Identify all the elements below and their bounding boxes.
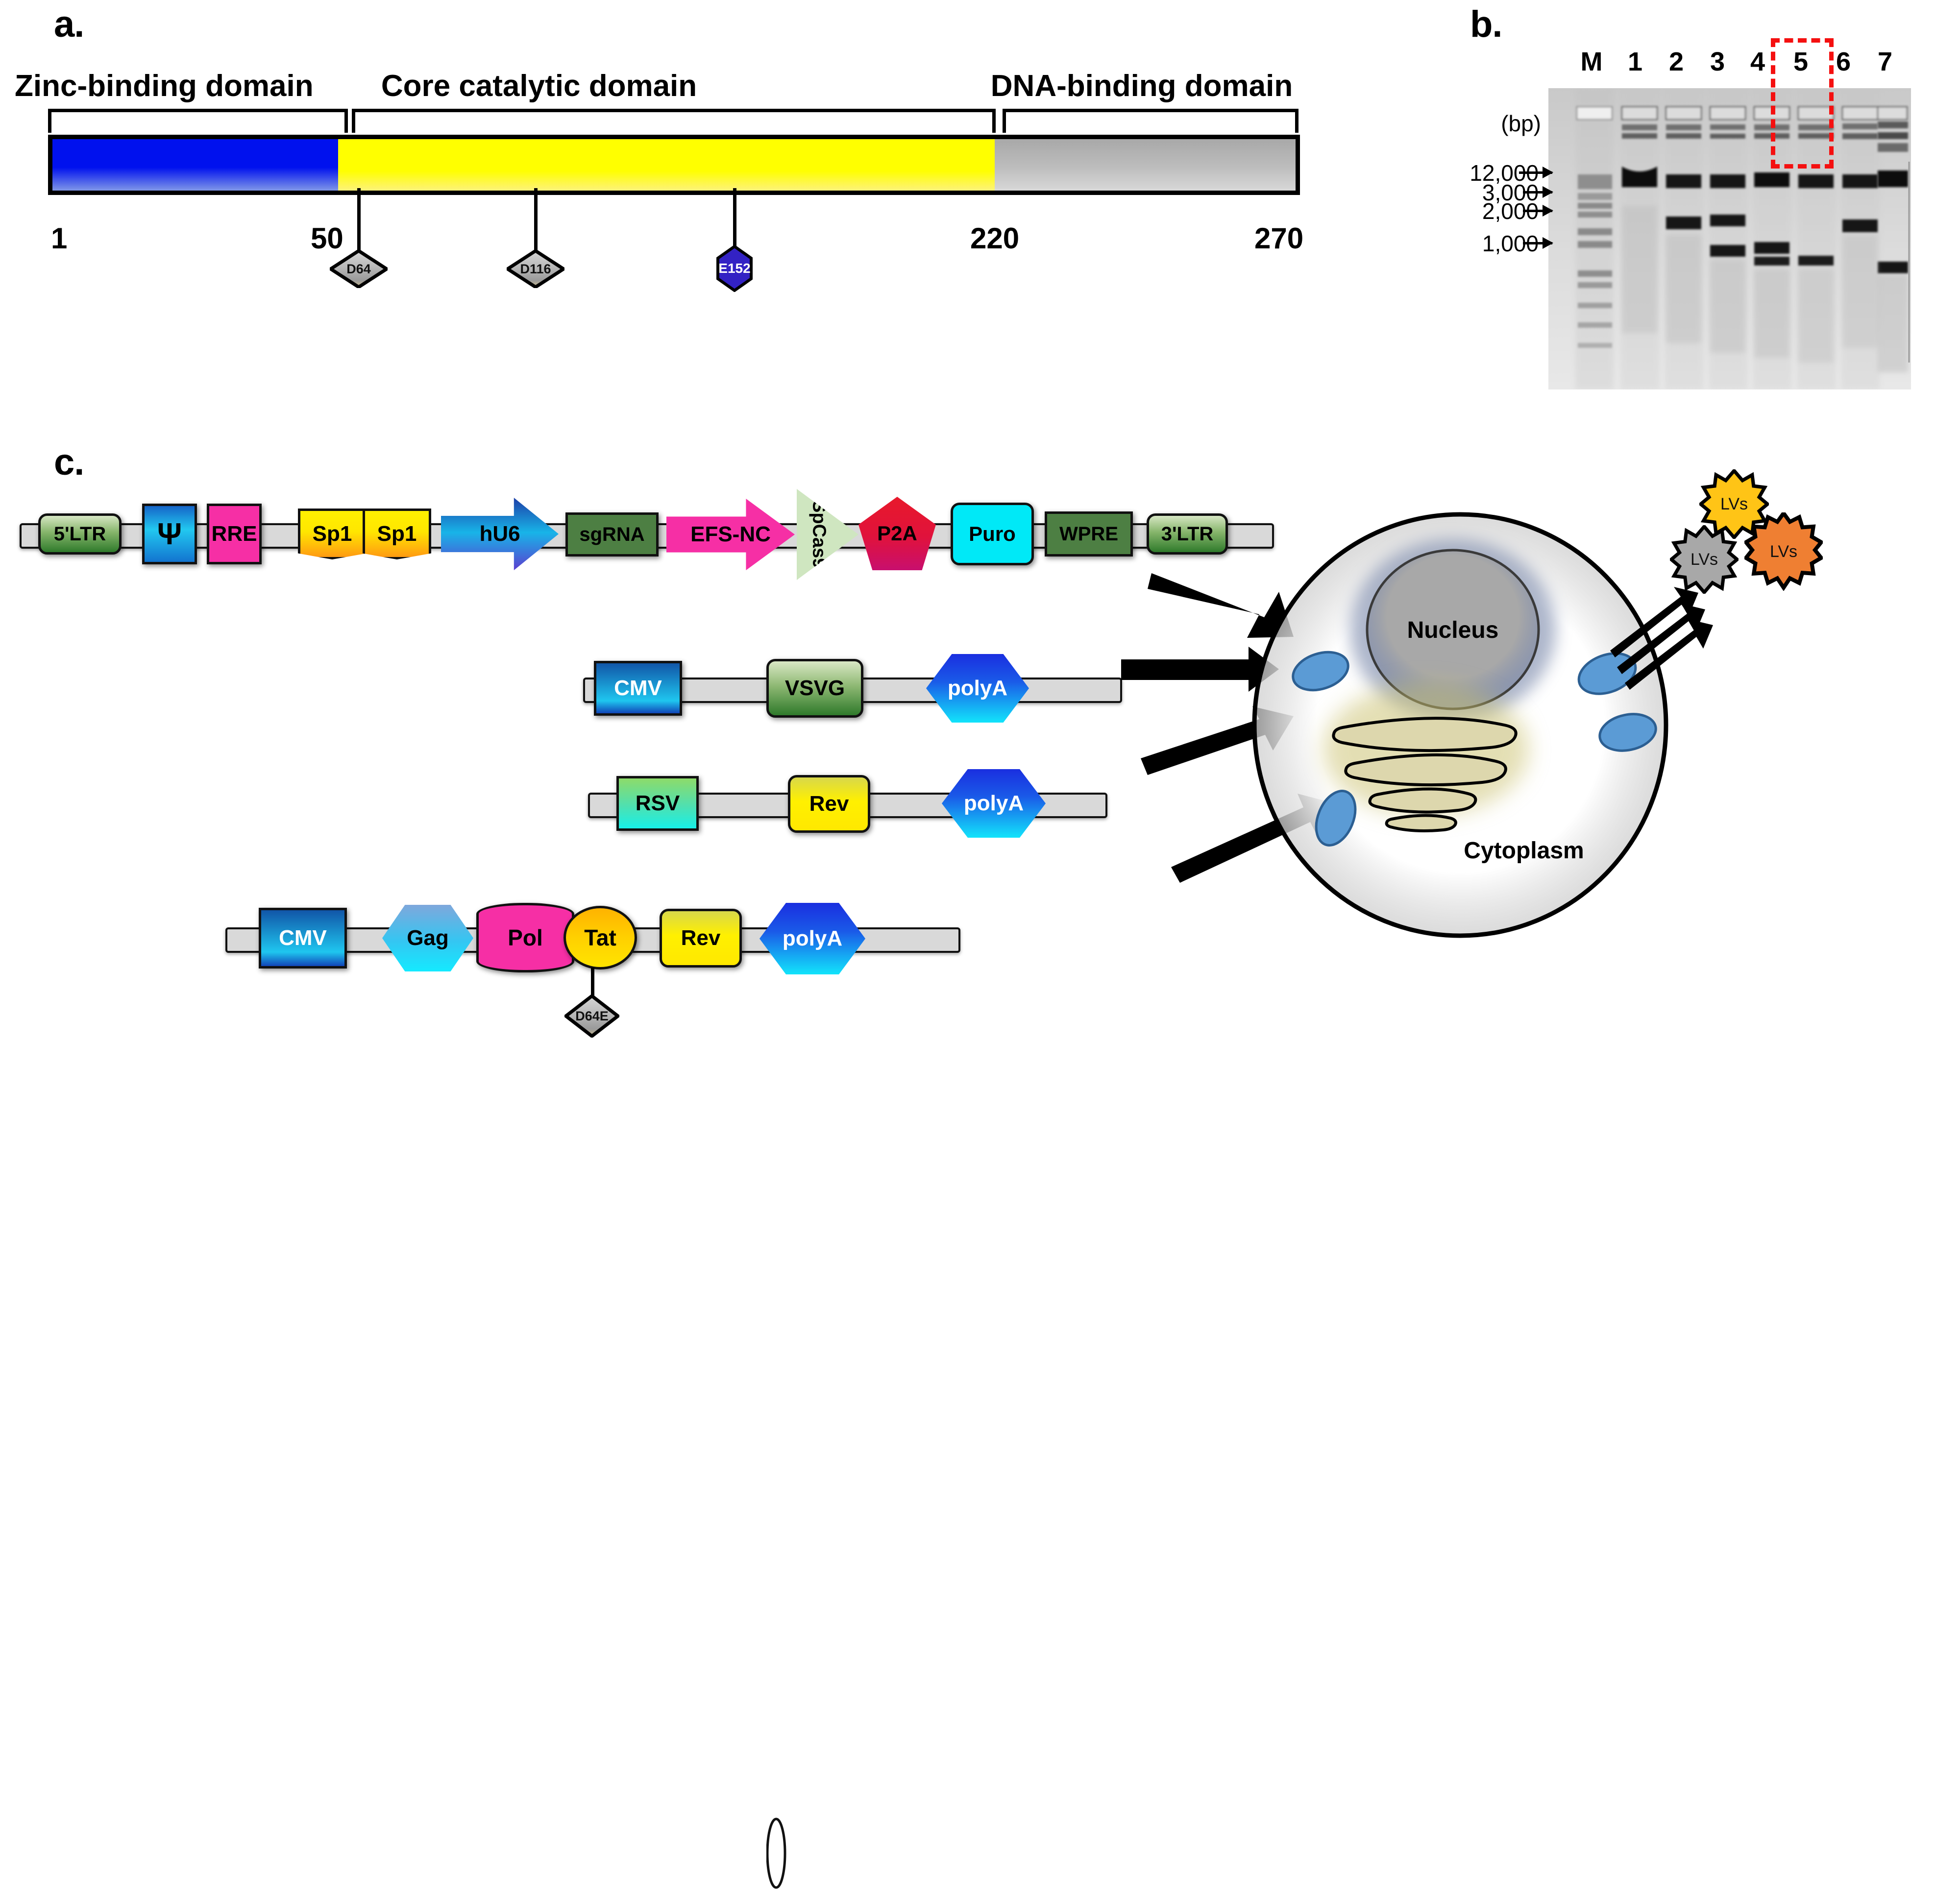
- feature-spcas9[interactable]: SpCas9: [797, 489, 858, 580]
- domain-segment-zinc: [48, 135, 343, 195]
- bp-arrow-1000: [1523, 242, 1552, 244]
- panel-c-letter: c.: [54, 441, 84, 484]
- feature-puro[interactable]: Puro: [951, 503, 1034, 565]
- feature-rev-1[interactable]: Rev: [788, 775, 870, 833]
- feature-p2a[interactable]: P2A: [858, 497, 936, 570]
- mutation-marker-e152: E152: [716, 245, 753, 292]
- domain-title-zinc: Zinc-binding domain: [15, 69, 279, 103]
- mutation-stem-e152: [733, 188, 736, 246]
- feature-polya-rev[interactable]: polyA: [942, 769, 1046, 838]
- gel-lane-label-m: M: [1574, 47, 1609, 77]
- feature-cmv-pack[interactable]: CMV: [259, 908, 347, 969]
- mutation-stem-d64: [357, 188, 361, 252]
- feature-sp1-2[interactable]: Sp1: [363, 509, 431, 559]
- mutation-marker-d64: D64: [330, 250, 388, 288]
- construct-transfer-vector: 5'LTR Ψ RRE Sp1 Sp1 hU6 sgRNA EFS-NC SpC…: [20, 509, 1274, 558]
- virion-budding-arrows: [1607, 578, 1744, 705]
- gel-lane-label-4: 4: [1740, 47, 1775, 77]
- construct-rev-plasmid: RSV Rev polyA: [588, 779, 1107, 828]
- construct-envelope-plasmid: CMV VSVG polyA: [583, 664, 1122, 713]
- bp-arrow-2000: [1523, 210, 1552, 212]
- feature-gag[interactable]: Gag: [382, 905, 473, 971]
- domain-segment-core: [338, 135, 995, 195]
- feature-psi[interactable]: Ψ: [142, 504, 197, 564]
- bp-arrow-12000: [1519, 171, 1552, 174]
- mutation-marker-d64e: D64E: [564, 994, 619, 1038]
- lane5-highlight-box: [1771, 38, 1834, 169]
- feature-tat[interactable]: Tat: [563, 906, 637, 969]
- feature-polya-pack[interactable]: polyA: [759, 903, 865, 974]
- domain-title-dna: DNA-binding domain: [970, 69, 1313, 103]
- bp-unit-label: (bp): [1468, 110, 1541, 137]
- mutation-label-d64: D64: [330, 250, 388, 288]
- feature-hu6[interactable]: hU6: [441, 498, 559, 570]
- panel-a-letter: a.: [54, 3, 84, 46]
- gel-lane-label-1: 1: [1618, 47, 1652, 77]
- feature-polya-env[interactable]: polyA: [926, 654, 1029, 723]
- target-cell-diagram: Nucleus Cytoplasm: [1230, 505, 1720, 945]
- feature-wpre[interactable]: WPRE: [1045, 511, 1133, 557]
- gel-lane-label-2: 2: [1659, 47, 1693, 77]
- feature-3ltr[interactable]: 3'LTR: [1147, 513, 1228, 555]
- bracket-core-domain: [352, 109, 996, 133]
- axis-number-220: 220: [970, 221, 1019, 255]
- feature-pol[interactable]: Pol: [476, 903, 574, 972]
- nucleus-label: Nucleus: [1407, 617, 1499, 643]
- mutation-label-d116: D116: [507, 250, 564, 288]
- feature-cmv-env[interactable]: CMV: [594, 661, 682, 716]
- mutation-label-e152: E152: [716, 245, 753, 292]
- feature-rev-2[interactable]: Rev: [660, 909, 742, 968]
- feature-5ltr[interactable]: 5'LTR: [38, 513, 122, 555]
- gel-electrophoresis-image: [1548, 88, 1911, 389]
- panel-b-letter: b.: [1470, 3, 1502, 46]
- axis-number-270: 270: [1254, 221, 1303, 255]
- virion-lvs-orange: LVs: [1744, 512, 1823, 591]
- feature-rre[interactable]: RRE: [207, 504, 262, 564]
- domain-title-core: Core catalytic domain: [343, 69, 735, 103]
- feature-sp1-1[interactable]: Sp1: [298, 509, 367, 559]
- bracket-dna-domain: [1003, 109, 1298, 133]
- gel-lane-label-7: 7: [1868, 47, 1902, 77]
- gel-lane-label-3: 3: [1700, 47, 1735, 77]
- bracket-zinc-domain: [48, 109, 348, 133]
- pol-cylinder-edge-icon: [766, 1817, 801, 1890]
- domain-segment-dna: [995, 135, 1300, 195]
- feature-rsv[interactable]: RSV: [616, 776, 699, 831]
- feature-vsvg[interactable]: VSVG: [766, 659, 863, 718]
- mutation-label-d64e: D64E: [564, 994, 619, 1038]
- feature-efs-nc[interactable]: EFS-NC: [666, 499, 795, 570]
- bp-arrow-3000: [1523, 191, 1552, 194]
- cytoplasm-label: Cytoplasm: [1464, 838, 1584, 864]
- feature-sgrna[interactable]: sgRNA: [565, 512, 659, 557]
- axis-number-1: 1: [51, 221, 67, 255]
- mutation-marker-d116: D116: [507, 250, 564, 288]
- mutation-stem-d116: [534, 188, 538, 252]
- virion-lvs-gray: LVs: [1670, 525, 1739, 594]
- construct-packaging-plasmid: CMV Gag Pol Tat Rev polyA: [225, 914, 960, 963]
